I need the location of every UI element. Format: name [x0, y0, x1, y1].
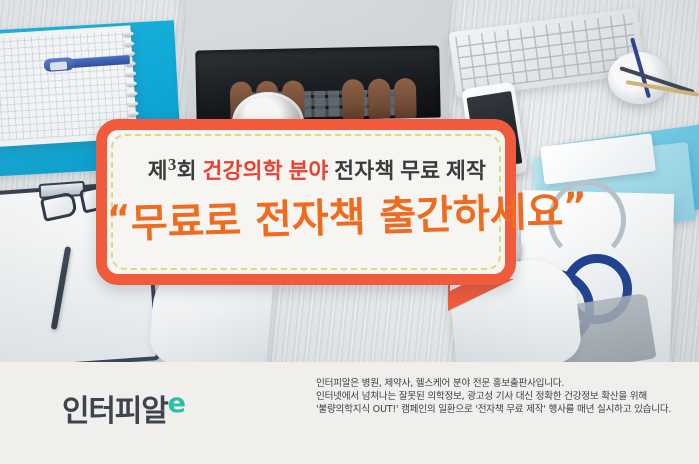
headline-prefix: 제: [148, 159, 168, 183]
banner-script-line: “무료로 전자책 출간하세요”: [106, 180, 527, 250]
script-text: 무료로 전자책 출간하세요: [130, 189, 564, 247]
close-quote: ”: [563, 185, 588, 227]
open-quote: “: [106, 198, 131, 240]
banner-headline: 제3회 건강의학 분야 전자책 무료 제작: [107, 154, 527, 185]
headline-suffix-1: 회: [177, 159, 203, 183]
logo-superscript-e: e: [168, 388, 186, 419]
headline-suffix-2: 전자책 무료 제작: [329, 159, 487, 183]
speech-bubble-tail: [448, 279, 522, 335]
logo-text: 인터피알: [62, 394, 168, 429]
headline-ordinal: 3: [168, 155, 177, 174]
promo-banner-page: 제3회 건강의학 분야 전자책 무료 제작 “무료로 전자책 출간하세요” 인터…: [0, 0, 699, 464]
speech-bubble: 제3회 건강의학 분야 전자책 무료 제작 “무료로 전자책 출간하세요”: [96, 119, 516, 309]
company-description: 인터피알은 병원, 제약사, 헬스케어 분야 전문 홍보출판사입니다. 인터넷에…: [316, 377, 696, 417]
speech-bubble-body: 제3회 건강의학 분야 전자책 무료 제작 “무료로 전자책 출간하세요”: [96, 119, 516, 285]
interpr-logo: 인터피알e: [62, 386, 186, 430]
description-line-2: 인터넷에서 넘쳐나는 잘못된 의학정보, 광고성 기사 대신 정확한 건강정보 …: [316, 390, 696, 403]
headline-highlight: 건강의학 분야: [202, 159, 328, 183]
description-line-3: '불량의학지식 OUT!' 캠페인의 일환으로 '전자책 무료 제작' 행사를 …: [316, 403, 696, 416]
description-line-1: 인터피알은 병원, 제약사, 헬스케어 분야 전문 홍보출판사입니다.: [316, 377, 696, 390]
